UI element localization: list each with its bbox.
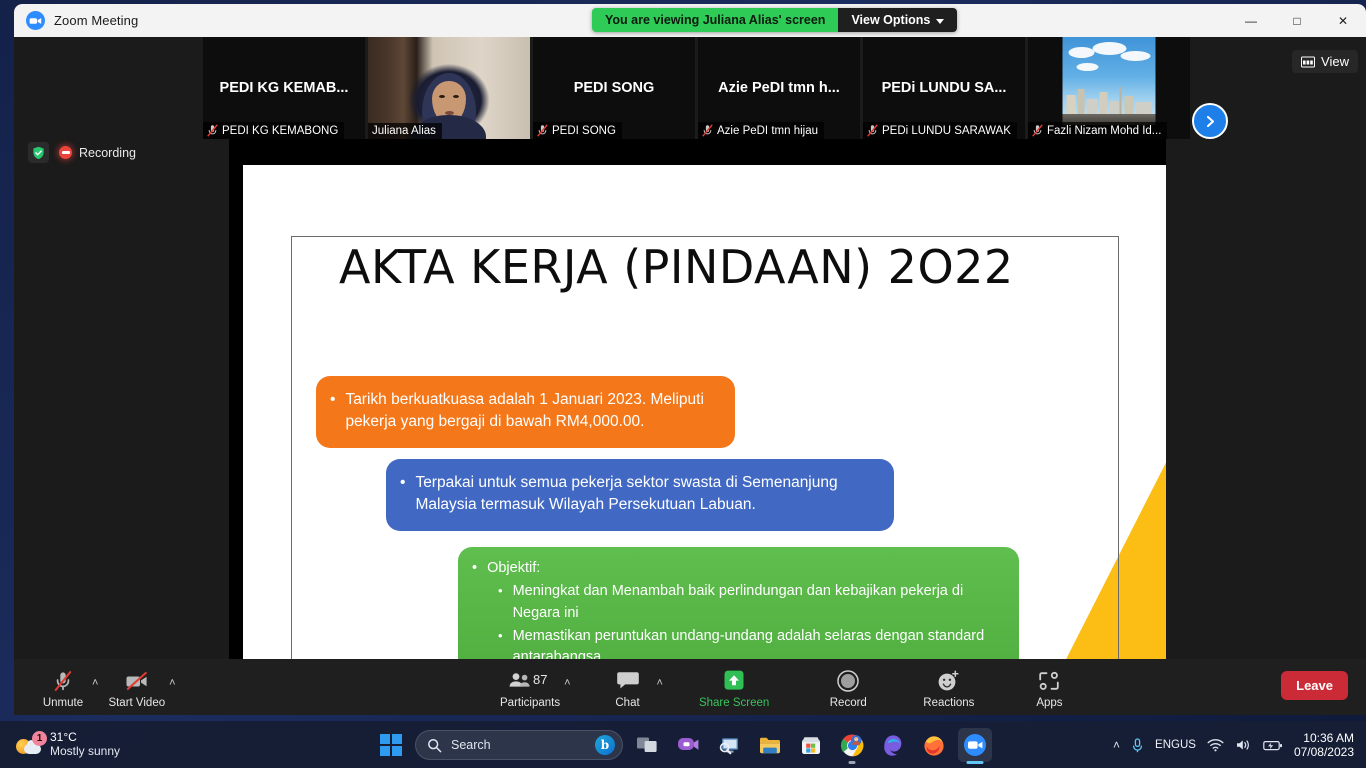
recording-label: Recording — [79, 146, 136, 160]
weather-temperature: 31°C — [50, 731, 120, 745]
cloud-icon — [1121, 51, 1151, 61]
green-callout-heading: Objektif: — [487, 558, 540, 579]
view-options-button[interactable]: View Options — [838, 8, 957, 32]
thumbnail-display-name: PEDi LUNDU SA... — [876, 80, 1013, 96]
list-item: • Meningkat dan Menambah baik perlindung… — [472, 581, 1003, 625]
folder-icon — [758, 735, 782, 756]
thumbnail-name-text: PEDI SONG — [552, 125, 616, 137]
bullet-icon: • — [498, 626, 503, 659]
thumbnail-name-text: PEDi LUNDU SARAWAK — [882, 125, 1011, 137]
mic-muted-icon — [207, 124, 218, 137]
view-options-label: View Options — [851, 13, 930, 27]
viewing-status-text: You are viewing Juliana Alias' screen — [592, 8, 838, 32]
green-sub-item-text: Meningkat dan Menambah baik perlindungan… — [513, 581, 1003, 625]
record-icon — [836, 668, 860, 694]
participants-label: Participants — [500, 697, 560, 709]
mic-muted-icon — [1032, 124, 1043, 137]
participant-filmstrip: PEDI KG KEMAB... PEDI KG KEMABONG — [14, 37, 1366, 139]
taskbar-app-microsoft-store[interactable] — [794, 728, 828, 762]
windows-taskbar: 1 31°C Mostly sunny Search b — [0, 721, 1366, 768]
thumbnail-display-name: PEDI SONG — [568, 80, 661, 96]
zoom-meeting-window: Zoom Meeting — □ ✕ PEDI KG KEMAB... PEDI… — [14, 4, 1366, 715]
remote-desktop-icon — [718, 735, 741, 756]
zoom-icon — [962, 732, 988, 758]
eye-left — [439, 95, 445, 98]
taskbar-app-firefox[interactable] — [917, 728, 951, 762]
taskbar-center-icons: Search b — [374, 726, 992, 764]
titlebar-left: Zoom Meeting — [14, 11, 138, 30]
thumbnail-name-label: Azie PeDI tmn hijau — [698, 122, 824, 139]
window-controls: — □ ✕ — [1228, 4, 1366, 37]
reactions-smiley-icon — [936, 668, 961, 694]
participants-button[interactable]: 87 Participants — [494, 666, 566, 709]
taskbar-app-teams[interactable] — [671, 728, 705, 762]
taskbar-app-file-explorer[interactable] — [753, 728, 787, 762]
list-item: • Memastikan peruntukan undang-undang ad… — [472, 626, 1003, 659]
windows-logo-icon — [380, 734, 403, 757]
bing-chat-icon[interactable]: b — [595, 735, 615, 755]
svg-text:87: 87 — [533, 672, 547, 687]
cloud-icon — [1069, 47, 1095, 58]
zoom-logo-icon — [26, 11, 45, 30]
taskbar-app-edge-copilot[interactable] — [876, 728, 910, 762]
reactions-label: Reactions — [923, 697, 974, 709]
thumbnail-name-text: Azie PeDI tmn hijau — [717, 125, 818, 137]
maximize-button[interactable]: □ — [1274, 4, 1320, 37]
green-callout-sublist: • Meningkat dan Menambah baik perlindung… — [472, 581, 1003, 659]
screen-share-banner: You are viewing Juliana Alias' screen Vi… — [592, 8, 957, 32]
slide-callout-orange: • Tarikh berkuatkuasa adalah 1 Januari 2… — [316, 376, 735, 448]
participant-thumbnail[interactable]: Azie PeDI tmn h... Azie PeDI tmn hijau — [698, 37, 860, 139]
microphone-tray-icon[interactable] — [1131, 737, 1144, 754]
thumbnail-name-label: PEDI SONG — [533, 122, 622, 139]
notification-badge: 1 — [32, 731, 47, 746]
thumbnail-name-label: Juliana Alias — [368, 123, 442, 139]
grid-view-icon — [1301, 56, 1315, 68]
close-button[interactable]: ✕ — [1320, 4, 1366, 37]
taskbar-app-remote-desktop[interactable] — [712, 728, 746, 762]
start-button[interactable] — [374, 728, 408, 762]
bullet-icon: • — [330, 389, 335, 434]
system-tray: ˄ ENG US 10:36 AM 07/08/2023 — [1113, 725, 1360, 765]
chat-caret-icon[interactable]: ˄ — [657, 677, 663, 689]
apps-button[interactable]: Apps — [1018, 666, 1080, 709]
toolbar-center-group: 87 Participants ˄ Chat ˄ — [494, 666, 1080, 709]
thumbnail-display-name: Azie PeDI tmn h... — [712, 80, 846, 96]
view-button-label: View — [1321, 54, 1349, 69]
record-label: Record — [830, 697, 867, 709]
participant-thumbnail[interactable]: PEDI SONG PEDI SONG — [533, 37, 695, 139]
clock-date: 07/08/2023 — [1294, 745, 1354, 759]
apps-label: Apps — [1036, 697, 1062, 709]
unmute-label: Unmute — [43, 697, 83, 709]
orange-callout-text: Tarikh berkuatkuasa adalah 1 Januari 202… — [345, 389, 719, 434]
thumbnail-name-label: PEDI KG KEMABONG — [203, 122, 344, 139]
copilot-icon — [881, 733, 905, 757]
slide-callout-blue: • Terpakai untuk semua pekerja sektor sw… — [386, 459, 894, 531]
chevron-right-icon — [1204, 114, 1217, 129]
wifi-icon[interactable] — [1207, 738, 1224, 752]
weather-description: Mostly sunny — [50, 745, 120, 759]
mic-muted-icon — [867, 124, 878, 137]
leave-button[interactable]: Leave — [1281, 671, 1348, 700]
next-participants-page-button[interactable] — [1192, 103, 1228, 139]
recording-indicator[interactable]: Recording — [59, 146, 136, 160]
camera-off-icon — [124, 668, 150, 694]
language-line-2: US — [1180, 739, 1196, 751]
mic-muted-icon — [702, 124, 713, 137]
participant-thumbnail[interactable]: PEDi LUNDU SA... PEDi LUNDU SARAWAK — [863, 37, 1025, 139]
search-placeholder: Search — [451, 738, 491, 752]
audio-options-caret-icon[interactable]: ˄ — [92, 677, 98, 689]
bullet-icon: • — [400, 472, 405, 517]
participants-icon: 87 — [508, 668, 552, 694]
participants-caret-icon[interactable]: ˄ — [564, 677, 570, 689]
thumbnail-name-text: PEDI KG KEMABONG — [222, 125, 338, 137]
reactions-button[interactable]: Reactions — [917, 666, 980, 709]
bullet-icon: • — [472, 558, 477, 579]
language-line-1: ENG — [1155, 739, 1180, 751]
bullet-icon: • — [498, 581, 503, 625]
thumbnail-row: PEDI KG KEMAB... PEDI KG KEMABONG — [203, 37, 1190, 139]
slide-title: AKTA KERJA (PINDAAN) 2O22 — [339, 240, 1014, 294]
profile-photo — [1063, 37, 1156, 125]
chat-label: Chat — [615, 697, 639, 709]
weather-icon: 1 — [16, 733, 42, 757]
chat-bubble-icon — [616, 668, 640, 694]
thumbnail-name-label: PEDi LUNDU SARAWAK — [863, 122, 1017, 139]
chat-button[interactable]: Chat — [597, 666, 659, 709]
share-screen-icon — [721, 668, 747, 694]
record-button[interactable]: Record — [817, 666, 879, 709]
chrome-icon — [840, 733, 865, 758]
weather-text: 31°C Mostly sunny — [50, 731, 120, 759]
thumbnail-display-name: PEDI KG KEMAB... — [214, 80, 355, 96]
firefox-icon — [922, 733, 946, 757]
window-title: Zoom Meeting — [54, 13, 138, 28]
chevron-down-icon — [936, 19, 944, 24]
thumbnail-name-text: Juliana Alias — [372, 125, 436, 137]
slide-callout-green: • Objektif: • Meningkat dan Menambah bai… — [458, 547, 1019, 659]
toolbar-left-group: Unmute ˄ Start Video ˄ — [32, 666, 180, 709]
start-video-label: Start Video — [108, 697, 165, 709]
city-skyline — [1063, 85, 1156, 115]
language-indicator[interactable]: ENG US — [1155, 739, 1196, 751]
mic-muted-icon — [537, 124, 548, 137]
search-input[interactable]: Search b — [415, 730, 623, 760]
participant-thumbnail[interactable]: PEDI KG KEMAB... PEDI KG KEMABONG — [203, 37, 365, 139]
clock[interactable]: 10:36 AM 07/08/2023 — [1294, 731, 1360, 760]
zoom-meeting-toolbar: Unmute ˄ Start Video ˄ — [14, 659, 1366, 715]
store-icon — [800, 735, 822, 756]
green-sub-item-text: Memastikan peruntukan undang-undang adal… — [513, 626, 1003, 659]
thumbnail-name-text: Fazli Nizam Mohd Id... — [1047, 125, 1161, 137]
participant-thumbnail-active[interactable]: Juliana Alias — [368, 37, 530, 139]
recording-dot-icon — [59, 146, 72, 159]
screen-root: Zoom Meeting — □ ✕ PEDI KG KEMAB... PEDI… — [0, 0, 1366, 768]
apps-icon — [1037, 668, 1061, 694]
blue-callout-text: Terpakai untuk semua pekerja sektor swas… — [415, 472, 878, 517]
taskbar-app-chrome[interactable] — [835, 728, 869, 762]
eye-right — [453, 95, 459, 98]
recording-status: Recording — [28, 142, 136, 163]
minimize-button[interactable]: — — [1228, 4, 1274, 37]
cloud-icon — [1077, 63, 1099, 71]
thumbnail-name-label: Fazli Nizam Mohd Id... — [1028, 122, 1167, 139]
tray-overflow-button[interactable]: ˄ — [1113, 738, 1120, 752]
start-video-button[interactable]: Start Video — [102, 666, 171, 709]
mic-muted-icon — [52, 668, 74, 694]
taskbar-app-zoom[interactable] — [958, 728, 992, 762]
clock-time: 10:36 AM — [1294, 731, 1354, 745]
shared-screen-area[interactable]: AKTA KERJA (PINDAAN) 2O22 • Tarikh berku… — [229, 139, 1166, 659]
video-options-caret-icon[interactable]: ˄ — [169, 677, 175, 689]
search-icon — [427, 738, 442, 753]
task-view-icon — [636, 735, 658, 755]
teams-icon — [676, 734, 700, 756]
presentation-slide: AKTA KERJA (PINDAAN) 2O22 • Tarikh berku… — [243, 165, 1166, 659]
share-screen-button[interactable]: Share Screen — [693, 666, 775, 709]
participant-thumbnail[interactable]: Fazli Nizam Mohd Id... — [1028, 37, 1190, 139]
weather-widget[interactable]: 1 31°C Mostly sunny — [8, 727, 128, 763]
view-layout-button[interactable]: View — [1292, 50, 1358, 73]
volume-icon[interactable] — [1235, 738, 1252, 752]
battery-charging-icon[interactable] — [1263, 739, 1283, 752]
unmute-button[interactable]: Unmute — [32, 666, 94, 709]
encryption-shield-icon[interactable] — [28, 142, 49, 163]
taskbar-app-task-view[interactable] — [630, 728, 664, 762]
share-screen-label: Share Screen — [699, 697, 769, 709]
